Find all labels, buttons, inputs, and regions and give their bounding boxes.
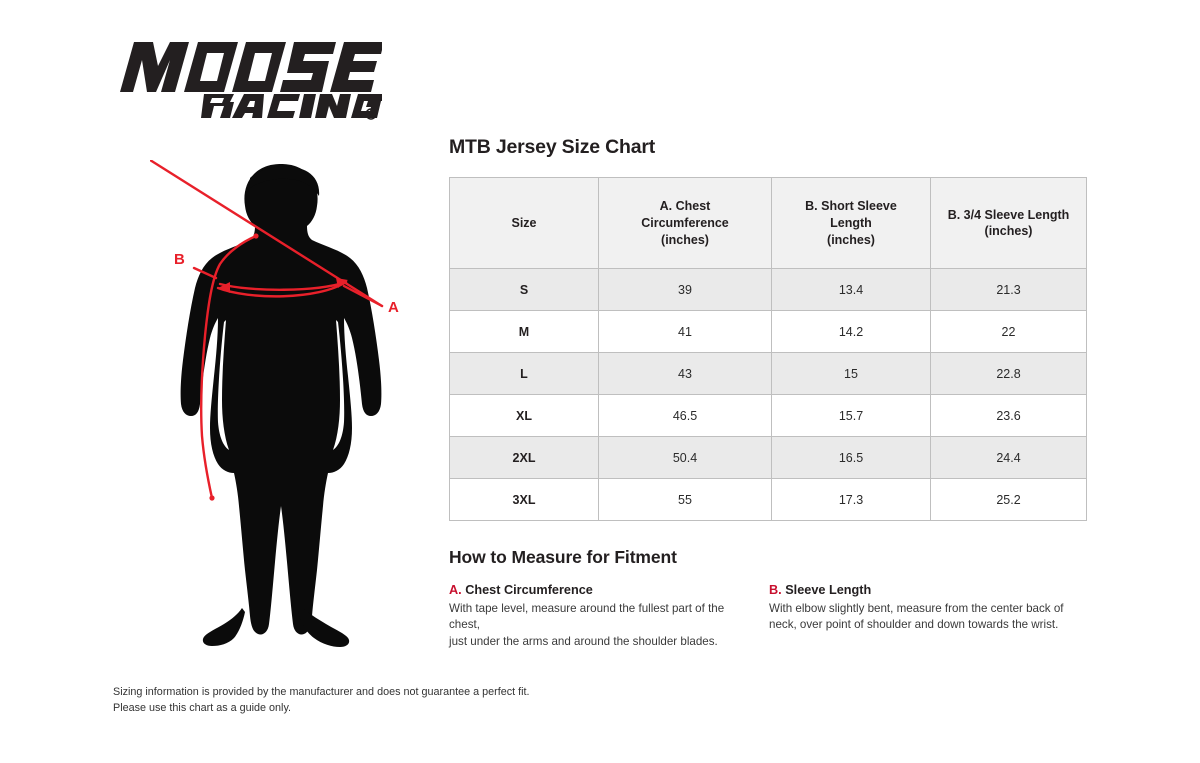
header-line: B. 3/4 Sleeve Length <box>948 208 1070 222</box>
table-row: L 43 15 22.8 <box>450 353 1087 395</box>
annotation-label-b: B <box>174 251 185 268</box>
sleeve-start-dot <box>253 233 258 238</box>
annotation-label-a: A <box>388 299 399 316</box>
description-line: neck, over point of shoulder and down to… <box>769 618 1058 631</box>
size-chart-table: Size A. Chest Circumference (inches) B. … <box>449 177 1087 521</box>
cell-size: XL <box>450 395 599 437</box>
disclaimer-note: Sizing information is provided by the ma… <box>113 684 530 716</box>
cell-short-sleeve: 16.5 <box>772 437 931 479</box>
column-header-chest: A. Chest Circumference (inches) <box>599 178 772 269</box>
cell-short-sleeve: 15 <box>772 353 931 395</box>
column-header-size: Size <box>450 178 599 269</box>
table-row: XL 46.5 15.7 23.6 <box>450 395 1087 437</box>
table-row: M 41 14.2 22 <box>450 311 1087 353</box>
male-body-silhouette-shape <box>181 164 382 647</box>
cell-chest: 50.4 <box>599 437 772 479</box>
header-line: Length <box>830 216 872 230</box>
measure-item-title: B. Sleeve Length <box>769 582 1071 599</box>
header-line: B. Short Sleeve <box>805 199 897 213</box>
measure-item-name: Sleeve Length <box>785 583 871 597</box>
sleeve-end-dot <box>209 495 214 500</box>
measure-item-key: A. <box>449 583 462 597</box>
cell-chest: 43 <box>599 353 772 395</box>
header-line: Size <box>511 216 536 230</box>
size-chart-content: MTB Jersey Size Chart Size A. Chest Circ… <box>449 136 1089 650</box>
cell-size: 2XL <box>450 437 599 479</box>
measure-item-title: A. Chest Circumference <box>449 582 751 599</box>
measure-item-key: B. <box>769 583 782 597</box>
table-row: S 39 13.4 21.3 <box>450 269 1087 311</box>
measure-item-description: With elbow slightly bent, measure from t… <box>769 601 1071 634</box>
cell-size: S <box>450 269 599 311</box>
measure-item-sleeve: B. Sleeve Length With elbow slightly ben… <box>769 582 1089 650</box>
cell-short-sleeve: 13.4 <box>772 269 931 311</box>
svg-text:R: R <box>368 112 373 119</box>
cell-short-sleeve: 15.7 <box>772 395 931 437</box>
body-silhouette-figure: B A <box>150 160 410 660</box>
cell-size: L <box>450 353 599 395</box>
disclaimer-line-2: Please use this chart as a guide only. <box>113 700 530 716</box>
cell-size: M <box>450 311 599 353</box>
cell-three-quarter-sleeve: 21.3 <box>931 269 1087 311</box>
disclaimer-line-1: Sizing information is provided by the ma… <box>113 684 530 700</box>
cell-chest: 41 <box>599 311 772 353</box>
moose-racing-logo: R <box>112 32 382 120</box>
column-header-three-quarter-sleeve: B. 3/4 Sleeve Length (inches) <box>931 178 1087 269</box>
cell-chest: 46.5 <box>599 395 772 437</box>
column-header-short-sleeve: B. Short Sleeve Length (inches) <box>772 178 931 269</box>
header-line: (inches) <box>827 233 875 247</box>
cell-three-quarter-sleeve: 24.4 <box>931 437 1087 479</box>
measure-item-chest: A. Chest Circumference With tape level, … <box>449 582 769 650</box>
header-line: A. Chest <box>660 199 711 213</box>
table-header-row: Size A. Chest Circumference (inches) B. … <box>450 178 1087 269</box>
table-row: 2XL 50.4 16.5 24.4 <box>450 437 1087 479</box>
header-line: Circumference <box>641 216 729 230</box>
cell-three-quarter-sleeve: 22 <box>931 311 1087 353</box>
description-line: With elbow slightly bent, measure from t… <box>769 602 1064 615</box>
measure-item-name: Chest Circumference <box>465 583 593 597</box>
cell-chest: 55 <box>599 479 772 521</box>
page-title: MTB Jersey Size Chart <box>449 136 1089 159</box>
how-to-measure-columns: A. Chest Circumference With tape level, … <box>449 582 1089 650</box>
cell-three-quarter-sleeve: 25.2 <box>931 479 1087 521</box>
cell-three-quarter-sleeve: 22.8 <box>931 353 1087 395</box>
header-line: (inches) <box>985 224 1033 238</box>
how-to-measure-heading: How to Measure for Fitment <box>449 547 1089 568</box>
cell-size: 3XL <box>450 479 599 521</box>
header-line: (inches) <box>661 233 709 247</box>
cell-chest: 39 <box>599 269 772 311</box>
cell-short-sleeve: 14.2 <box>772 311 931 353</box>
description-line: just under the arms and around the shoul… <box>449 635 718 648</box>
description-line: With tape level, measure around the full… <box>449 602 724 631</box>
cell-three-quarter-sleeve: 23.6 <box>931 395 1087 437</box>
measure-item-description: With tape level, measure around the full… <box>449 601 751 650</box>
cell-short-sleeve: 17.3 <box>772 479 931 521</box>
table-row: 3XL 55 17.3 25.2 <box>450 479 1087 521</box>
